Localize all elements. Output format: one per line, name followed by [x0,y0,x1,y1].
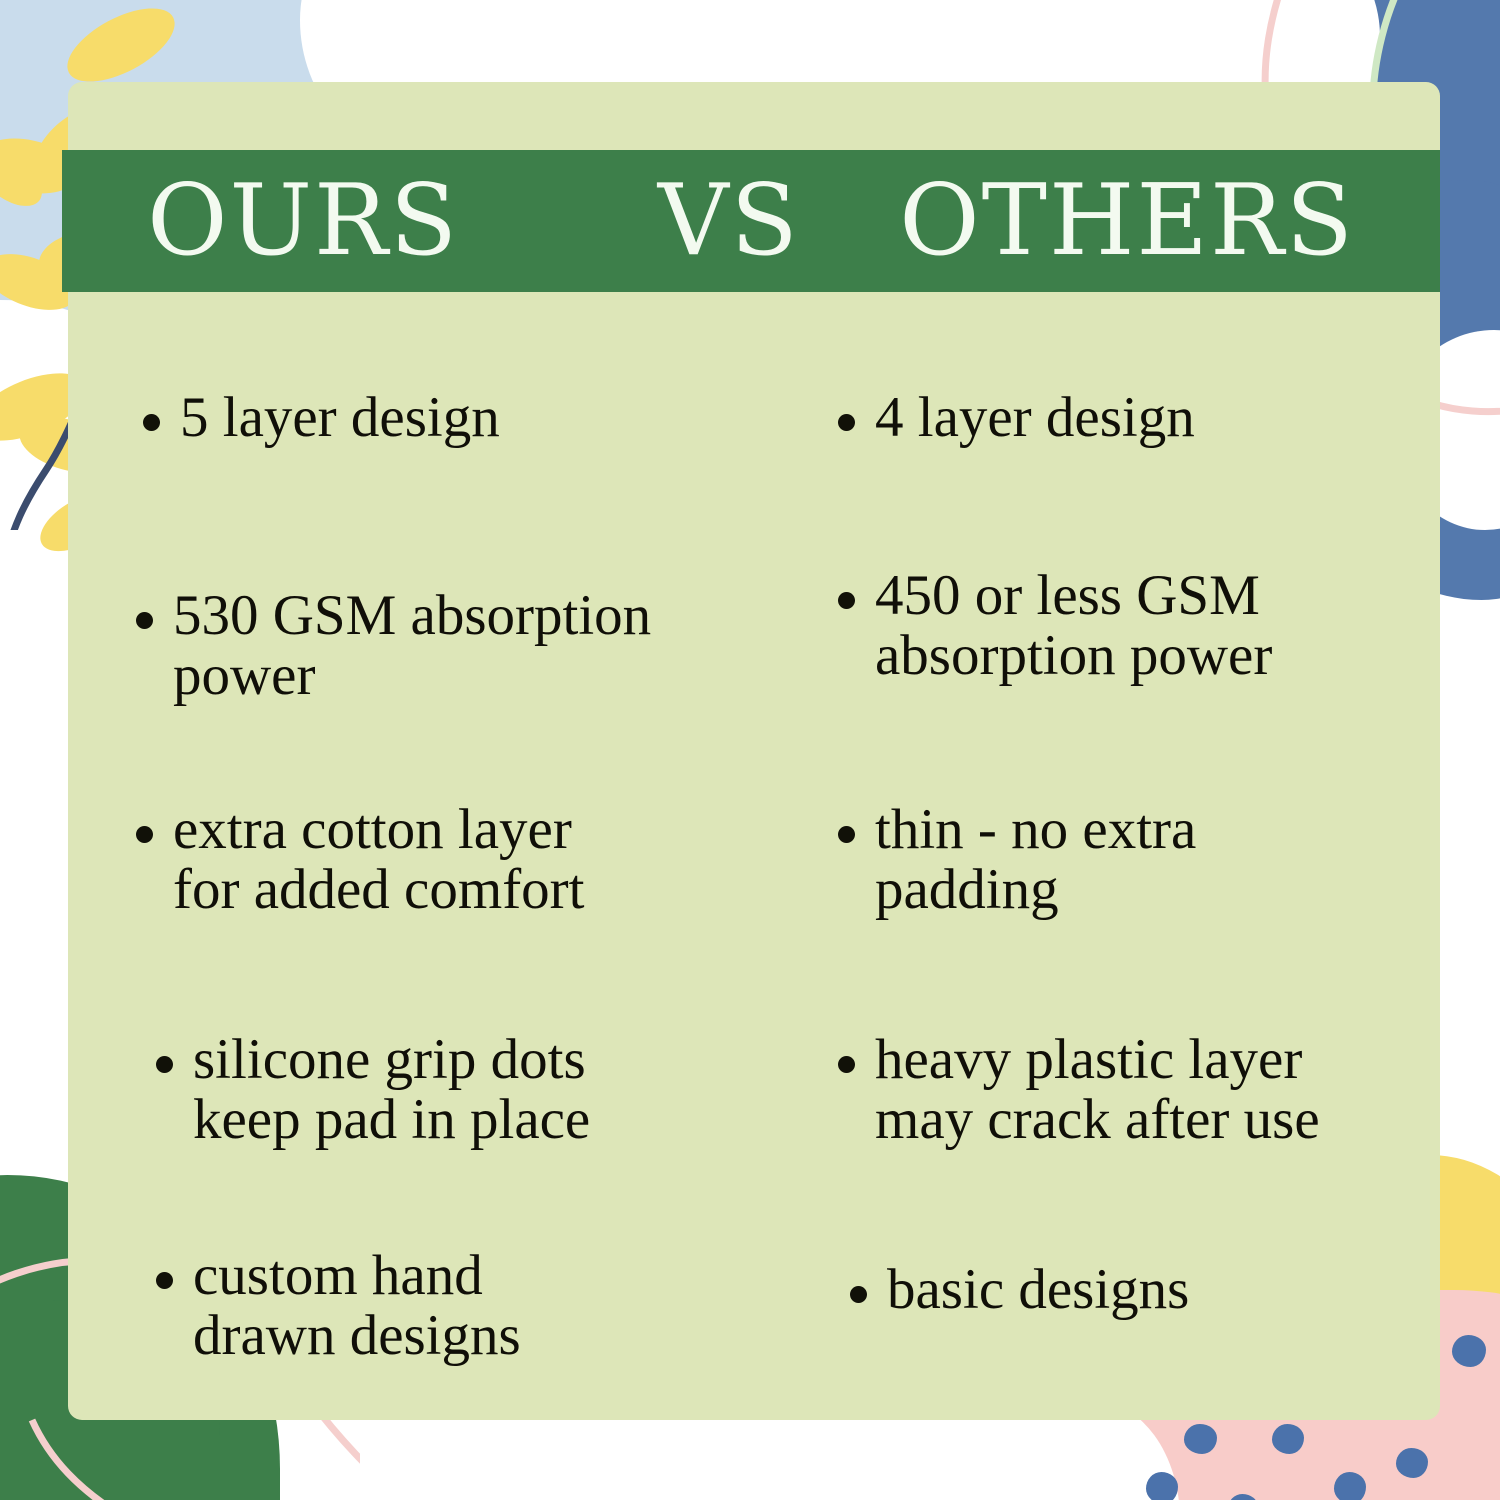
bullet-dot-icon [136,612,153,629]
blue-dot-icon [1452,1335,1486,1367]
bullet-dot-icon [838,414,855,431]
bullet-label: 450 or less GSM absorption power [875,566,1272,686]
bullet-label: custom hand drawn designs [193,1246,521,1366]
list-item: 4 layer design [838,388,1195,448]
column-ours: 5 layer design 530 GSM absorption power … [68,330,754,1420]
comparison-columns: 5 layer design 530 GSM absorption power … [68,330,1440,1420]
bullet-label: silicone grip dots keep pad in place [193,1030,590,1150]
bullet-label: thin - no extra padding [875,800,1196,920]
bullet-label: extra cotton layer for added comfort [173,800,585,920]
list-item: basic designs [850,1260,1189,1320]
bullet-label: 530 GSM absorption power [173,586,651,706]
bullet-dot-icon [136,826,153,843]
list-item: extra cotton layer for added comfort [136,800,585,920]
bullet-dot-icon [850,1286,867,1303]
blue-dot-icon [1146,1472,1178,1500]
bullet-dot-icon [156,1272,173,1289]
list-item: 5 layer design [143,388,500,448]
list-item: 450 or less GSM absorption power [838,566,1272,686]
column-others: 4 layer design 450 or less GSM absorptio… [754,330,1440,1420]
bullet-dot-icon [156,1056,173,1073]
list-item: thin - no extra padding [838,800,1196,920]
bullet-dot-icon [838,592,855,609]
bullet-dot-icon [838,826,855,843]
list-item: silicone grip dots keep pad in place [156,1030,590,1150]
list-item: 530 GSM absorption power [136,586,651,706]
blue-dot-icon [1272,1424,1304,1454]
bullet-label: 4 layer design [875,388,1195,448]
list-item: custom hand drawn designs [156,1246,521,1366]
blue-dot-icon [1334,1472,1366,1500]
bullet-dot-icon [838,1056,855,1073]
bullet-label: 5 layer design [180,388,500,448]
blue-dot-icon [1396,1448,1428,1478]
bullet-label: basic designs [887,1260,1189,1320]
list-item: heavy plastic layer may crack after use [838,1030,1320,1150]
page-title: OURS VS OTHERS [147,172,1355,270]
comparison-infographic: OURS VS OTHERS 5 layer design 530 GSM ab… [0,0,1500,1500]
header-band: OURS VS OTHERS [62,150,1440,292]
blue-dot-icon [1184,1424,1217,1454]
bullet-label: heavy plastic layer may crack after use [875,1030,1320,1150]
bullet-dot-icon [143,414,160,431]
